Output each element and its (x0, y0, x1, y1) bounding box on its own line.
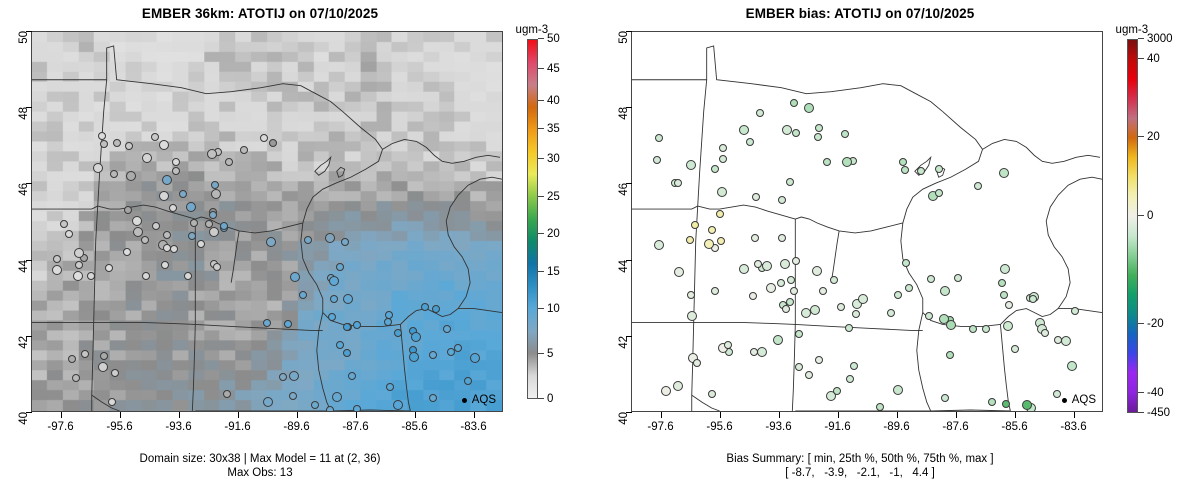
x-axis-bias: -97.6-95.6-93.6-91.6-89.6-87.6-85.6-83.6 (631, 412, 1103, 442)
aqs-legend-label: AQS (472, 394, 496, 406)
observation-point (823, 158, 831, 166)
observation-point (894, 291, 902, 299)
y-tick-label: 44 (18, 260, 30, 273)
observation-point (792, 129, 800, 137)
observation-point (795, 363, 803, 371)
observation-point (876, 403, 884, 411)
y-tick-label: 44 (618, 260, 630, 273)
y-tick-label: 46 (618, 183, 630, 196)
observation-point (304, 236, 312, 244)
observation-point (901, 166, 909, 174)
x-tick-label: -97.6 (647, 421, 673, 433)
y-tick-label: 40 (18, 412, 30, 425)
aqs-marker-icon (1062, 398, 1067, 403)
observation-point (719, 144, 727, 152)
x-tick-label: -89.6 (883, 421, 909, 433)
observation-point (98, 132, 106, 140)
colorbar-tick (538, 271, 544, 272)
observation-point (766, 283, 776, 293)
observation-point (686, 236, 694, 244)
observation-point (708, 226, 716, 234)
observation-point (815, 124, 823, 132)
observation-point (927, 275, 935, 283)
observation-point (343, 323, 351, 331)
observation-point (814, 133, 822, 141)
observation-point (893, 385, 903, 395)
observation-point (1003, 321, 1013, 331)
observation-point (716, 210, 724, 218)
observation-point (687, 291, 695, 299)
observation-point (429, 351, 437, 359)
observation-point (60, 220, 68, 228)
observation-point (661, 386, 671, 396)
observation-point (778, 196, 786, 204)
colorbar-tick-label: -40 (1147, 387, 1164, 399)
observation-point (787, 276, 795, 284)
colorbar-model[interactable]: ugm-3 05101520253035404550 (527, 39, 538, 399)
observation-point (393, 400, 403, 410)
observation-point (348, 372, 356, 380)
x-tick-label: -93.6 (165, 421, 191, 433)
x-tick-label: -85.6 (1001, 421, 1027, 433)
observation-point (184, 272, 192, 280)
observation-point (795, 330, 803, 338)
aqs-legend-label: AQS (1072, 394, 1096, 406)
colorbar-units-label: ugm-3 (516, 24, 549, 36)
observation-point (52, 265, 62, 275)
observation-point (207, 149, 217, 159)
observation-point (756, 109, 764, 117)
observation-point (386, 383, 394, 391)
observation-point (384, 318, 392, 326)
colorbar-tick-label: 20 (1147, 131, 1160, 143)
x-tick-label: -93.6 (765, 421, 791, 433)
colorbar-tick-label: 30 (547, 153, 560, 165)
colorbar-tick-label: 40 (1147, 53, 1160, 65)
observation-point (87, 272, 95, 280)
colorbar-tick-label: 0 (1147, 210, 1153, 222)
observation-point (653, 156, 661, 164)
observation-point (105, 264, 113, 272)
observation-point (777, 279, 785, 287)
colorbar-tick (538, 100, 544, 101)
y-tick-label: 46 (18, 183, 30, 196)
observation-point (225, 158, 233, 166)
x-tick-label: -87.6 (942, 421, 968, 433)
colorbar-tick-label: -450 (1147, 407, 1170, 419)
colorbar-tick (538, 158, 544, 159)
observation-point (804, 103, 814, 113)
x-tick (238, 412, 239, 418)
observation-point (754, 260, 762, 268)
observation-point (447, 348, 455, 356)
observation-point (240, 146, 248, 154)
observation-point (432, 305, 440, 313)
y-tick-label: 50 (18, 31, 30, 44)
x-tick (474, 412, 475, 418)
observation-point (935, 165, 943, 173)
observation-point (110, 170, 118, 178)
observation-point (209, 211, 217, 219)
observation-point (1011, 345, 1019, 353)
observation-point (311, 401, 319, 409)
observation-point (686, 160, 696, 170)
colorbar-tick-label: 5 (547, 348, 553, 360)
y-tick-label: 42 (618, 336, 630, 349)
observation-point (353, 405, 361, 412)
observation-point (269, 139, 277, 147)
observation-point (999, 168, 1009, 178)
observation-point (905, 284, 913, 292)
x-tick (1015, 412, 1016, 418)
observation-point (394, 329, 402, 337)
observation-point (998, 279, 1006, 287)
observation-point (982, 325, 990, 333)
x-tick-label: -87.6 (342, 421, 368, 433)
observation-point (805, 371, 813, 379)
x-tick-label: -83.6 (460, 421, 486, 433)
observation-point (141, 236, 149, 244)
colorbar-tick (538, 233, 544, 234)
observation-point (197, 240, 205, 248)
colorbar-tick-label: 45 (547, 63, 560, 75)
colorbar-tick-label: 0 (547, 393, 553, 405)
colorbar-tick (1138, 136, 1144, 137)
observation-point (142, 153, 152, 163)
aqs-legend-model: AQS (462, 394, 496, 406)
observation-point (837, 303, 845, 311)
caption-bias-line2: [ -8.7, -3.9, -2.1, -1, 4.4 ] (785, 467, 935, 479)
observation-point (190, 219, 198, 227)
colorbar-tick-label: -20 (1147, 318, 1164, 330)
observation-point (68, 355, 76, 363)
observation-point (782, 125, 792, 135)
observation-point (941, 394, 949, 402)
y-tick-label: 40 (618, 412, 630, 425)
observation-point (746, 138, 754, 146)
observation-point (780, 259, 790, 269)
observation-point (289, 371, 299, 381)
observation-point (858, 294, 868, 304)
x-tick-label: -83.6 (1060, 421, 1086, 433)
observation-point (812, 266, 822, 276)
observation-point (717, 237, 725, 245)
observation-point (211, 189, 221, 199)
colorbar-tick-label: 3000 (1147, 33, 1173, 45)
observation-point (935, 189, 943, 197)
observation-point (172, 158, 180, 166)
observation-point (815, 356, 823, 364)
observation-point (159, 191, 169, 201)
observation-point (724, 341, 732, 349)
observation-point (762, 261, 772, 271)
observation-point (421, 303, 429, 311)
observation-point (751, 234, 759, 242)
observation-point (186, 202, 196, 212)
x-tick-label: -91.6 (824, 421, 850, 433)
observation-point (411, 332, 421, 342)
observation-point (1029, 295, 1037, 303)
observation-point (93, 163, 103, 173)
observation-point (833, 387, 841, 395)
x-tick (956, 412, 957, 418)
observation-point (325, 233, 335, 243)
colorbar-tick (1138, 215, 1144, 216)
x-tick (897, 412, 898, 418)
observation-point (1053, 390, 1061, 398)
colorbar-tick (1138, 392, 1144, 393)
observation-point (757, 347, 767, 357)
observation-point (842, 157, 852, 167)
x-tick-label: -85.6 (401, 421, 427, 433)
colorbar-tick (538, 128, 544, 129)
observation-point (687, 311, 697, 321)
x-tick (61, 412, 62, 418)
caption-bias-line1: Bias Summary: [ min, 25th %, 50th %, 75t… (726, 453, 993, 465)
colorbar-tick (538, 196, 544, 197)
observation-point (284, 320, 292, 328)
observation-point (1000, 291, 1008, 299)
observation-point (841, 130, 849, 138)
colorbar-tick-label: 50 (547, 33, 560, 45)
colorbar-tick (538, 398, 544, 399)
colorbar-bias[interactable]: ugm-3 -450-40-20020403000 (1127, 39, 1138, 413)
observation-point (163, 231, 171, 239)
colorbar-tick-label: 25 (547, 191, 560, 203)
observation-point (819, 287, 827, 295)
y-axis-bias: 404244464850 (606, 31, 632, 412)
observation-point (336, 341, 344, 349)
x-tick (120, 412, 121, 418)
observation-point (213, 263, 221, 271)
observation-point (1000, 264, 1010, 274)
observation-point (443, 325, 451, 333)
y-tick-label: 50 (618, 31, 630, 44)
x-tick (838, 412, 839, 418)
x-tick-label: -89.6 (283, 421, 309, 433)
panel-model-title: EMBER 36km: ATOTIJ on 07/10/2025 (0, 6, 520, 21)
observation-point (1002, 400, 1010, 408)
colorbar-tick (1138, 58, 1144, 59)
observation-point (100, 140, 108, 148)
observation-point (810, 305, 820, 315)
observation-point (220, 222, 228, 230)
colorbar-tick-label: 20 (547, 228, 560, 240)
observation-point (132, 216, 142, 226)
colorbar-tick-label: 35 (547, 123, 560, 135)
observation-point (343, 294, 353, 304)
observation-point (845, 324, 853, 332)
observation-point (674, 179, 682, 187)
colorbar-tick-label: 15 (547, 266, 560, 278)
x-tick-label: -95.6 (106, 421, 132, 433)
observation-point (1022, 400, 1032, 410)
observation-point (704, 239, 714, 249)
colorbar-units-label: ugm-3 (1116, 24, 1149, 36)
observation-point (708, 390, 716, 398)
observation-point (654, 240, 664, 250)
observation-point (343, 349, 351, 357)
observation-point (850, 362, 858, 370)
observation-point (162, 175, 172, 185)
aqs-marker-icon (462, 398, 467, 403)
observation-point (123, 248, 131, 256)
observation-point (673, 381, 683, 391)
observation-point (159, 140, 169, 150)
observation-point (988, 398, 996, 406)
panel-bias-title: EMBER bias: ATOTIJ on 07/10/2025 (600, 6, 1120, 21)
observation-point (974, 182, 982, 190)
colorbar-tick-label: 40 (547, 95, 560, 107)
observation-point (719, 155, 727, 163)
observation-point (846, 375, 854, 383)
observation-point (263, 397, 273, 407)
map-outlines-bias (632, 32, 1102, 411)
observation-point (111, 369, 119, 377)
colorbar-tick (538, 308, 544, 309)
aqs-legend-bias: AQS (1062, 394, 1096, 406)
observation-point (902, 259, 910, 267)
observation-point (188, 232, 196, 240)
x-tick (356, 412, 357, 418)
observation-point (113, 139, 121, 147)
observation-point (290, 272, 300, 282)
observation-point (289, 392, 297, 400)
observation-point (172, 167, 180, 175)
observation-point (852, 310, 860, 318)
observation-point (739, 264, 749, 274)
observation-point (108, 398, 116, 406)
colorbar-tick (1138, 38, 1144, 39)
observation-point (429, 394, 437, 402)
observation-point (266, 237, 276, 247)
observation-point (53, 255, 61, 263)
observation-point (711, 165, 719, 173)
observation-point (209, 227, 219, 237)
colorbar-gradient (527, 39, 538, 399)
observation-point (170, 245, 178, 253)
map-plot-bias[interactable]: AQS (631, 31, 1103, 412)
observation-point (752, 193, 760, 201)
colorbar-tick (1138, 323, 1144, 324)
observation-point (925, 312, 933, 320)
x-tick (779, 412, 780, 418)
x-tick (415, 412, 416, 418)
colorbar-gradient (1127, 39, 1138, 413)
colorbar-tick (538, 353, 544, 354)
observation-point (329, 276, 339, 286)
observation-point (81, 350, 89, 358)
caption-model-line1: Domain size: 30x38 | Max Model = 11 at (… (140, 453, 381, 465)
observation-point (917, 167, 925, 175)
observation-point (126, 171, 136, 181)
observation-point (691, 221, 699, 229)
observation-point (940, 286, 950, 296)
observation-point (151, 133, 159, 141)
observation-point (790, 99, 798, 107)
observation-point (223, 390, 231, 398)
observation-point (98, 362, 108, 372)
observation-point (161, 261, 169, 269)
observation-point (341, 238, 349, 246)
y-tick-label: 48 (18, 107, 30, 120)
observation-point (790, 287, 798, 295)
observation-point (954, 274, 962, 282)
observation-point (336, 263, 344, 271)
x-tick (720, 412, 721, 418)
caption-bias: Bias Summary: [ min, 25th %, 50th %, 75t… (600, 452, 1120, 480)
observation-point (169, 204, 177, 212)
observation-point (786, 178, 794, 186)
observation-point (1061, 336, 1071, 346)
observation-point (73, 271, 83, 281)
observation-point (946, 351, 954, 359)
observation-point (328, 313, 336, 321)
y-tick-label: 42 (18, 336, 30, 349)
observation-point (655, 134, 663, 142)
observation-point (353, 321, 361, 329)
observation-point (946, 320, 956, 330)
x-tick-label: -95.6 (706, 421, 732, 433)
observation-point (179, 190, 187, 198)
observation-point (464, 377, 472, 385)
colorbar-tick (538, 38, 544, 39)
observation-point (72, 374, 80, 382)
observation-point (899, 158, 907, 166)
observation-point (263, 319, 271, 327)
x-axis-model: -97.6-95.6-93.6-91.6-89.6-87.6-85.6-83.6 (31, 412, 503, 442)
observation-point (1041, 329, 1049, 337)
observation-point (142, 272, 150, 280)
map-plot-model[interactable]: AQS (31, 31, 503, 412)
panel-model: EMBER 36km: ATOTIJ on 07/10/2025 (0, 0, 600, 502)
panel-bias: EMBER bias: ATOTIJ on 07/10/2025 (600, 0, 1200, 502)
y-tick-label: 48 (618, 107, 630, 120)
observation-point (693, 359, 701, 367)
observation-point (1005, 301, 1013, 309)
observation-point (1067, 361, 1077, 371)
observation-point (674, 267, 684, 277)
caption-model-line2: Max Obs: 13 (227, 467, 292, 479)
observation-point (717, 187, 727, 197)
observation-point (74, 248, 84, 258)
observation-point (773, 335, 783, 345)
observation-point (299, 291, 307, 299)
x-tick (661, 412, 662, 418)
x-tick (297, 412, 298, 418)
observation-point (1071, 307, 1079, 315)
observation-point (152, 222, 160, 230)
colorbar-tick-label: 10 (547, 303, 560, 315)
x-tick-label: -97.6 (47, 421, 73, 433)
observation-point (65, 230, 73, 238)
observation-point (125, 142, 133, 150)
y-axis-model: 404244464850 (6, 31, 32, 412)
observation-point (279, 373, 287, 381)
observation-point (330, 295, 338, 303)
caption-model: Domain size: 30x38 | Max Model = 11 at (… (0, 452, 520, 480)
observation-point (969, 325, 977, 333)
colorbar-tick (538, 68, 544, 69)
x-tick (1074, 412, 1075, 418)
observation-point (749, 292, 757, 300)
observation-point (409, 352, 419, 362)
observation-point (332, 392, 342, 402)
observation-point (100, 352, 108, 360)
observation-point (887, 309, 895, 317)
observation-point (830, 276, 838, 284)
x-tick-label: -91.6 (224, 421, 250, 433)
